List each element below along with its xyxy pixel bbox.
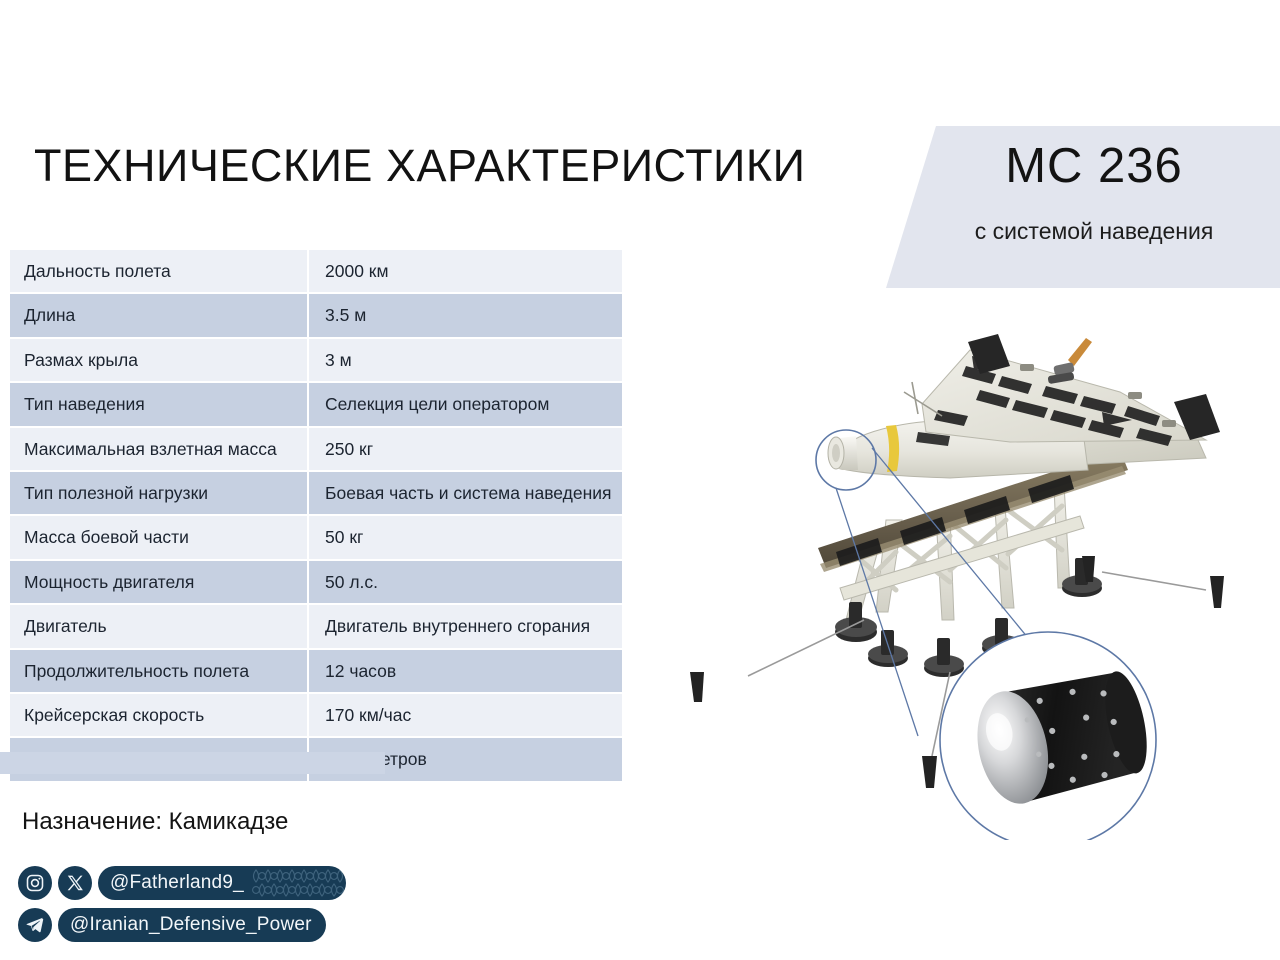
spec-key: Дальность полета xyxy=(10,250,308,293)
model-name: MC 236 xyxy=(880,138,1280,194)
spec-value: 170 км/час xyxy=(308,693,622,737)
ornament-pattern-icon xyxy=(250,866,346,900)
handle-text-fatherland: @Fatherland9_ xyxy=(110,872,244,894)
spec-value: 2000 км xyxy=(308,250,622,293)
handle-pill-iranian-defensive-power[interactable]: @Iranian_Defensive_Power xyxy=(58,908,326,942)
specifications-table: Дальность полета2000 кмДлина3.5 мРазмах … xyxy=(10,250,622,783)
table-row: Максимальная взлетная масса250 кг xyxy=(10,427,622,471)
spec-key: Размах крыла xyxy=(10,338,308,382)
table-row: Мощность двигателя50 л.с. xyxy=(10,560,622,604)
slide-root: ТЕХНИЧЕСКИЕ ХАРАКТЕРИСТИКИ MC 236 с сист… xyxy=(0,0,1280,960)
model-subtitle: с системой наведения xyxy=(880,218,1280,245)
spec-value: Селекция цели оператором xyxy=(308,382,622,426)
spec-value: 50 л.с. xyxy=(308,560,622,604)
instagram-icon[interactable] xyxy=(18,866,52,900)
uav-on-launcher-graphic xyxy=(650,320,1280,840)
spec-value: 3 м xyxy=(308,338,622,382)
table-row: Тип полезной нагрузкиБоевая часть и сист… xyxy=(10,471,622,515)
x-icon[interactable] xyxy=(58,866,92,900)
spec-key: Длина xyxy=(10,293,308,337)
handle-pill-fatherland[interactable]: @Fatherland9_ xyxy=(98,866,346,900)
telegram-icon[interactable] xyxy=(18,908,52,942)
spec-key: Максимальная взлетная масса xyxy=(10,427,308,471)
table-row: Масса боевой части50 кг xyxy=(10,515,622,559)
table-row: ДвигательДвигатель внутреннего сгорания xyxy=(10,604,622,648)
spec-key: Тип наведения xyxy=(10,382,308,426)
table-row: Длина3.5 м xyxy=(10,293,622,337)
table-row: Крейсерская скорость170 км/час xyxy=(10,693,622,737)
spec-value: 3.5 м xyxy=(308,293,622,337)
spec-key: Двигатель xyxy=(10,604,308,648)
social-row-telegram: @Iranian_Defensive_Power xyxy=(18,908,326,942)
spec-value: Боевая часть и система наведения xyxy=(308,471,622,515)
spec-value: Двигатель внутреннего сгорания xyxy=(308,604,622,648)
decorative-bar xyxy=(0,752,385,774)
spec-key: Масса боевой части xyxy=(10,515,308,559)
table-row: Дальность полета2000 км xyxy=(10,250,622,293)
social-row-primary: @Fatherland9_ xyxy=(18,866,346,900)
spec-value: 12 часов xyxy=(308,649,622,693)
page-title: ТЕХНИЧЕСКИЕ ХАРАКТЕРИСТИКИ xyxy=(34,140,805,192)
uav-airframe xyxy=(828,334,1220,478)
drone-illustration xyxy=(650,320,1280,840)
spec-value: 50 кг xyxy=(308,515,622,559)
spec-value: 250 кг xyxy=(308,427,622,471)
purpose-line: Назначение: Камикадзе xyxy=(22,808,288,836)
spec-key: Мощность двигателя xyxy=(10,560,308,604)
table-row: Продолжительность полета12 часов xyxy=(10,649,622,693)
propeller xyxy=(1048,338,1092,384)
table-row: Размах крыла3 м xyxy=(10,338,622,382)
spec-key: Продолжительность полета xyxy=(10,649,308,693)
spec-key: Крейсерская скорость xyxy=(10,693,308,737)
seeker-head-detail xyxy=(940,632,1156,840)
spec-key: Тип полезной нагрузки xyxy=(10,471,308,515)
handle-text-iranian-defensive-power: @Iranian_Defensive_Power xyxy=(70,914,312,936)
table-row: Тип наведенияСелекция цели оператором xyxy=(10,382,622,426)
